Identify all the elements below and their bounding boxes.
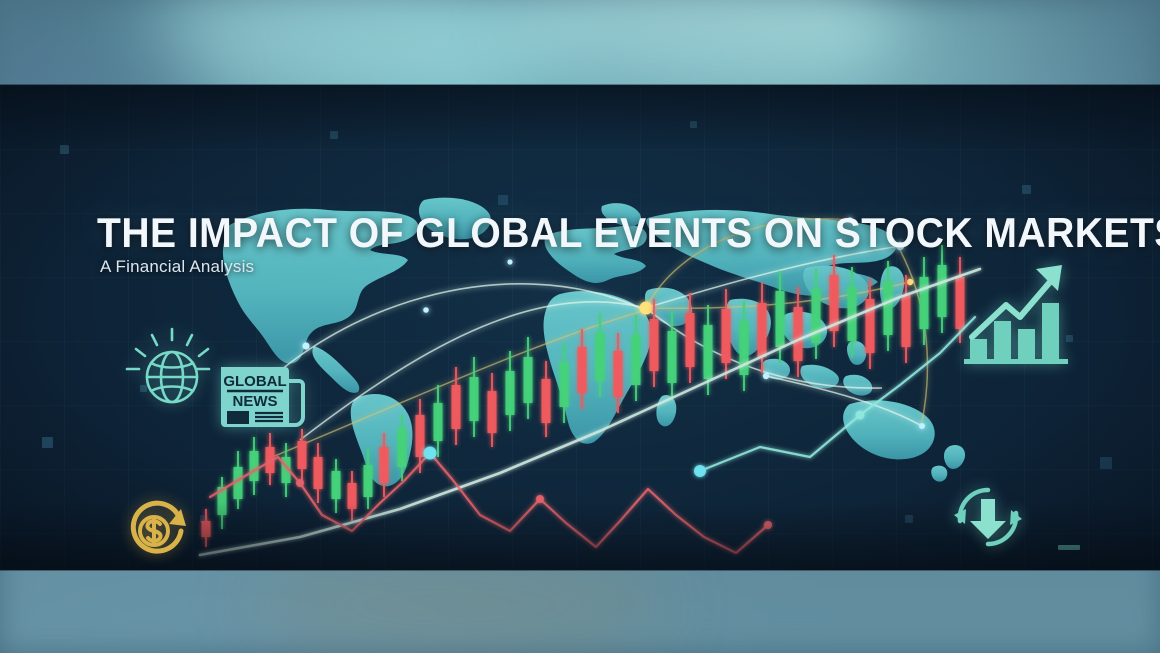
candle-body bbox=[848, 287, 857, 341]
candle-body bbox=[452, 385, 461, 429]
candle-body bbox=[202, 521, 211, 537]
candle-body bbox=[364, 465, 373, 497]
candle-body bbox=[722, 309, 731, 363]
page-subtitle: A Financial Analysis bbox=[100, 257, 254, 277]
candle-body bbox=[470, 377, 479, 421]
candle-body bbox=[596, 333, 605, 381]
candle-series bbox=[202, 245, 965, 547]
candle-body bbox=[524, 357, 533, 403]
page-title: THE IMPACT OF GLOBAL EVENTS ON STOCK MAR… bbox=[97, 209, 1160, 257]
candle-body bbox=[250, 451, 259, 481]
candle-body bbox=[578, 347, 587, 393]
download-arrow-icon bbox=[948, 477, 1028, 557]
candle-body bbox=[938, 265, 947, 317]
candle-body bbox=[704, 325, 713, 379]
globe-broadcast-icon bbox=[122, 323, 214, 415]
candle-body bbox=[776, 291, 785, 347]
dollar-refresh-icon bbox=[120, 493, 194, 565]
candle-body bbox=[398, 429, 407, 467]
backdrop-smudge-3 bbox=[250, 560, 670, 650]
candle-body bbox=[650, 319, 659, 371]
candle-body bbox=[332, 471, 341, 499]
candle-body bbox=[668, 331, 677, 383]
candle-body bbox=[884, 281, 893, 335]
candle-body bbox=[542, 379, 551, 423]
candle-body bbox=[920, 277, 929, 329]
candle-body bbox=[298, 441, 307, 469]
candle-body bbox=[488, 391, 497, 433]
candle-body bbox=[614, 351, 623, 397]
candle-body bbox=[380, 447, 389, 483]
candle-body bbox=[686, 313, 695, 367]
newspaper-icon: GLOBAL NEWS bbox=[215, 359, 311, 431]
candle-body bbox=[314, 457, 323, 489]
candle-body bbox=[506, 371, 515, 415]
candle-body bbox=[758, 303, 767, 357]
candle-body bbox=[348, 483, 357, 509]
newspaper-headline-line1: GLOBAL bbox=[223, 373, 286, 390]
candle-body bbox=[560, 363, 569, 407]
candle-body bbox=[794, 307, 803, 361]
infographic-panel: GLOBAL NEWS bbox=[0, 85, 1160, 570]
candle-body bbox=[902, 295, 911, 347]
candle-body bbox=[632, 335, 641, 385]
newspaper-headline-line2: NEWS bbox=[233, 393, 278, 410]
candle-body bbox=[416, 415, 425, 457]
bar-chart-growth-icon bbox=[962, 255, 1072, 367]
candle-body bbox=[434, 403, 443, 441]
